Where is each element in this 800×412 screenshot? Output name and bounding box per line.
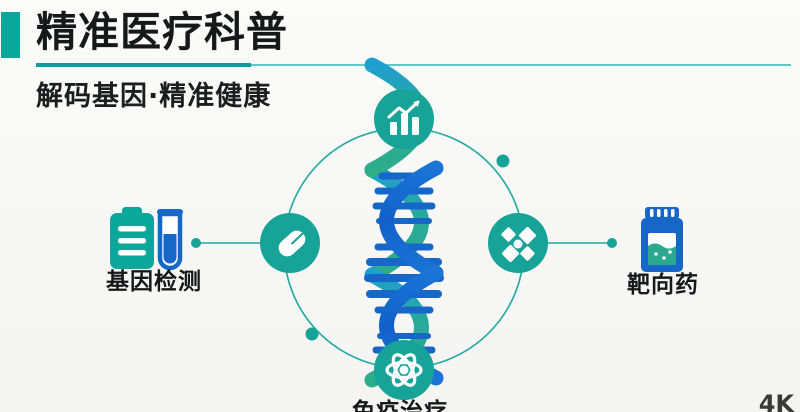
clipboard-testtube-icon [110, 207, 183, 269]
connector-left-dot [191, 238, 201, 248]
medicine-bottle-icon [641, 207, 683, 272]
label-targeted-drug: 靶向药 [608, 265, 718, 299]
precision-medicine-diagram [0, 0, 800, 412]
node-top[interactable] [374, 89, 434, 149]
watermark-4k: 4K [759, 390, 794, 412]
label-gene-testing: 基因检测 [96, 262, 212, 296]
node-left[interactable] [260, 213, 320, 273]
ring-dot-lower-left [306, 328, 319, 341]
ring-dot-upper-right [497, 155, 510, 168]
slide-canvas: 精准医疗科普 解码基因·精准健康 [0, 0, 800, 412]
node-bottom[interactable] [374, 340, 434, 400]
node-right[interactable] [488, 213, 548, 273]
connector-right-dot [607, 238, 617, 248]
label-immunotherapy: 免疫治疗 [340, 392, 460, 412]
